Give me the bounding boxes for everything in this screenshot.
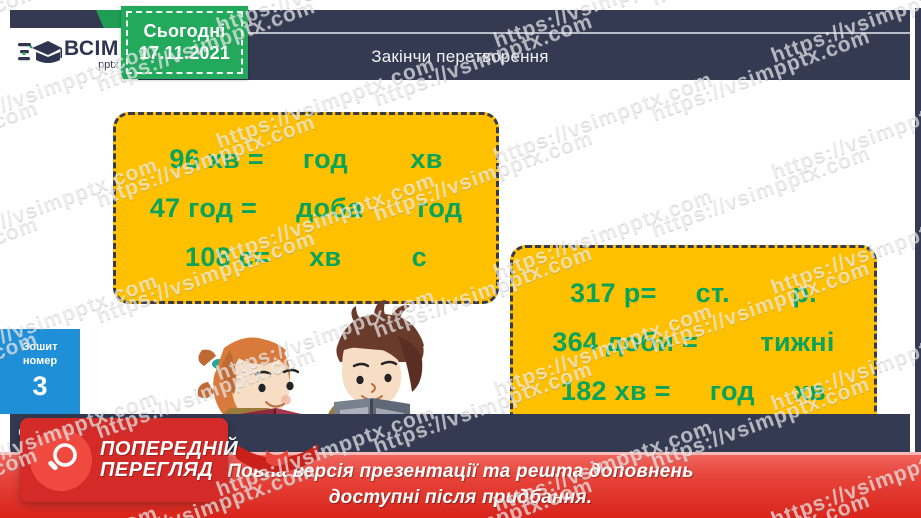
slide-edge-right [915, 8, 921, 454]
slide-canvas: Закінчи перетворення ВСІМ pptx Сьогодні … [0, 0, 921, 518]
preview-overlay-card[interactable]: ПОПЕРЕДНІЙ ПЕРЕГЛЯД [20, 418, 228, 502]
task-line: 47 год = доба год [116, 184, 496, 233]
today-label: Сьогодні [144, 21, 226, 42]
notebook-label-line2: номер [23, 355, 57, 369]
ribbon-decoration [232, 440, 322, 476]
task-line: 108 с= хв с [116, 233, 496, 282]
preview-label-line2: ПЕРЕГЛЯД [100, 460, 238, 481]
task-line: 364 доби = тижні [513, 318, 874, 367]
today-value: 17.11.2021 [139, 43, 230, 64]
task-line: 182 хв = год хв [513, 367, 874, 416]
task-line: 317 р= ст. р. [513, 269, 874, 318]
preview-label-line1: ПОПЕРЕДНІЙ [100, 439, 238, 460]
brand-name: ВСІМ [64, 38, 119, 59]
graduation-cap-icon [18, 36, 62, 72]
brand-subtitle: pptx [64, 60, 119, 71]
banner-line-2: доступні після придбання. [329, 485, 593, 511]
notebook-number-badge: Зошит номер 3 [0, 329, 80, 414]
notebook-number: 3 [32, 371, 47, 402]
magnifier-icon [30, 429, 92, 491]
notebook-label-line1: Зошит [23, 341, 58, 355]
task-box-1: 96 хв = год хв 47 год = доба год 108 с= … [113, 112, 499, 304]
task-box-2: 317 р= ст. р. 364 доби = тижні 182 хв = … [510, 245, 877, 439]
brand-logo[interactable]: ВСІМ pptx [10, 28, 138, 80]
slide-frame-left [0, 0, 10, 329]
task-line: 96 хв = год хв [116, 135, 496, 184]
today-date-badge: Сьогодні 17.11.2021 [121, 6, 248, 79]
